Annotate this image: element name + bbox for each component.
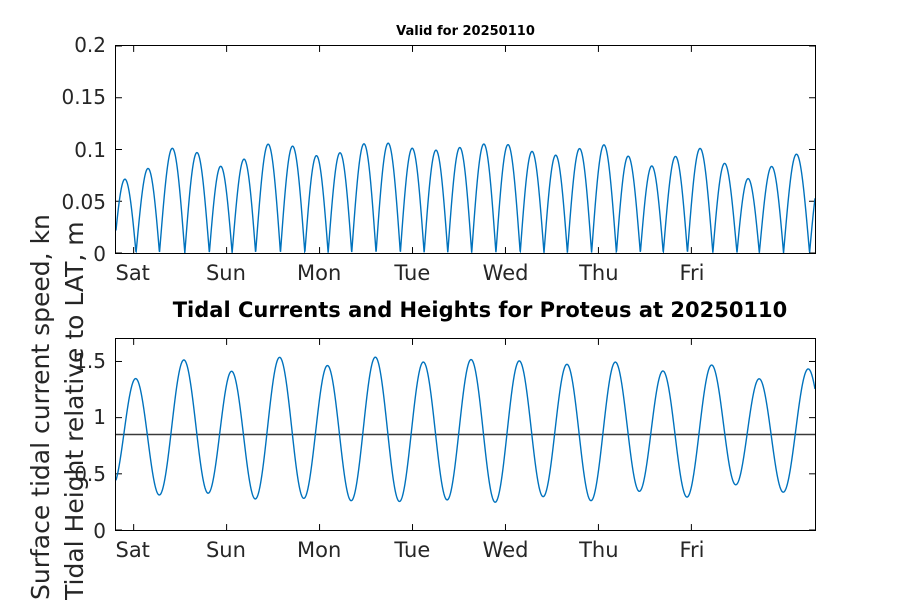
bottom-chart-plot-area (115, 338, 816, 531)
tidal-height-relative-to-lat-x-tick-label-fri: Fri (680, 538, 705, 562)
tidal-height-relative-to-lat-x-tick-label-thu: Thu (579, 538, 618, 562)
tidal-height-relative-to-lat-y-tick-label: 0 (14, 519, 106, 543)
bottom-chart-svg (116, 339, 815, 530)
top-chart-plot-area (115, 45, 816, 254)
tidal-height-relative-to-lat-y-tick-label: 1 (14, 405, 106, 429)
figure-main-title: Tidal Currents and Heights for Proteus a… (60, 298, 900, 322)
surface-tidal-current-speed-x-tick-label-sun: Sun (206, 261, 246, 285)
surface-tidal-current-speed-x-tick-label-wed: Wed (483, 261, 529, 285)
surface-tidal-current-speed-y-tick-label: 0.15 (14, 85, 106, 109)
top-chart-subtitle: Valid for 20250110 (115, 24, 816, 39)
surface-tidal-current-speed-x-tick-label-sat: Sat (115, 261, 149, 285)
surface-tidal-current-speed-x-tick-label-tue: Tue (394, 261, 430, 285)
tidal-height-relative-to-lat-x-tick-label-sat: Sat (115, 538, 149, 562)
tidal-height-relative-to-lat-x-tick-label-mon: Mon (297, 538, 341, 562)
tidal-height-relative-to-lat-x-tick-label-wed: Wed (483, 538, 529, 562)
surface-tidal-current-speed-x-tick-label-mon: Mon (297, 261, 341, 285)
surface-tidal-current-speed-y-tick-label: 0 (14, 242, 106, 266)
tidal-height-relative-to-lat-x-tick-label-tue: Tue (394, 538, 430, 562)
surface-tidal-current-speed-line (116, 143, 815, 253)
tidal-height-relative-to-lat-y-tick-label: 0.5 (14, 462, 106, 486)
surface-tidal-current-speed-x-tick-label-fri: Fri (680, 261, 705, 285)
tidal-height-line (116, 357, 815, 502)
tidal-height-relative-to-lat-x-tick-label-sun: Sun (206, 538, 246, 562)
surface-tidal-current-speed-x-tick-label-thu: Thu (579, 261, 618, 285)
tidal-height-relative-to-lat-y-tick-label: 1.5 (14, 349, 106, 373)
surface-tidal-current-speed-y-tick-label: 0.2 (14, 33, 106, 57)
top-chart-svg (116, 46, 815, 253)
surface-tidal-current-speed-y-tick-label: 0.1 (14, 138, 106, 162)
surface-tidal-current-speed-y-tick-label: 0.05 (14, 190, 106, 214)
figure-canvas: Valid for 20250110 Surface tidal current… (0, 0, 900, 600)
